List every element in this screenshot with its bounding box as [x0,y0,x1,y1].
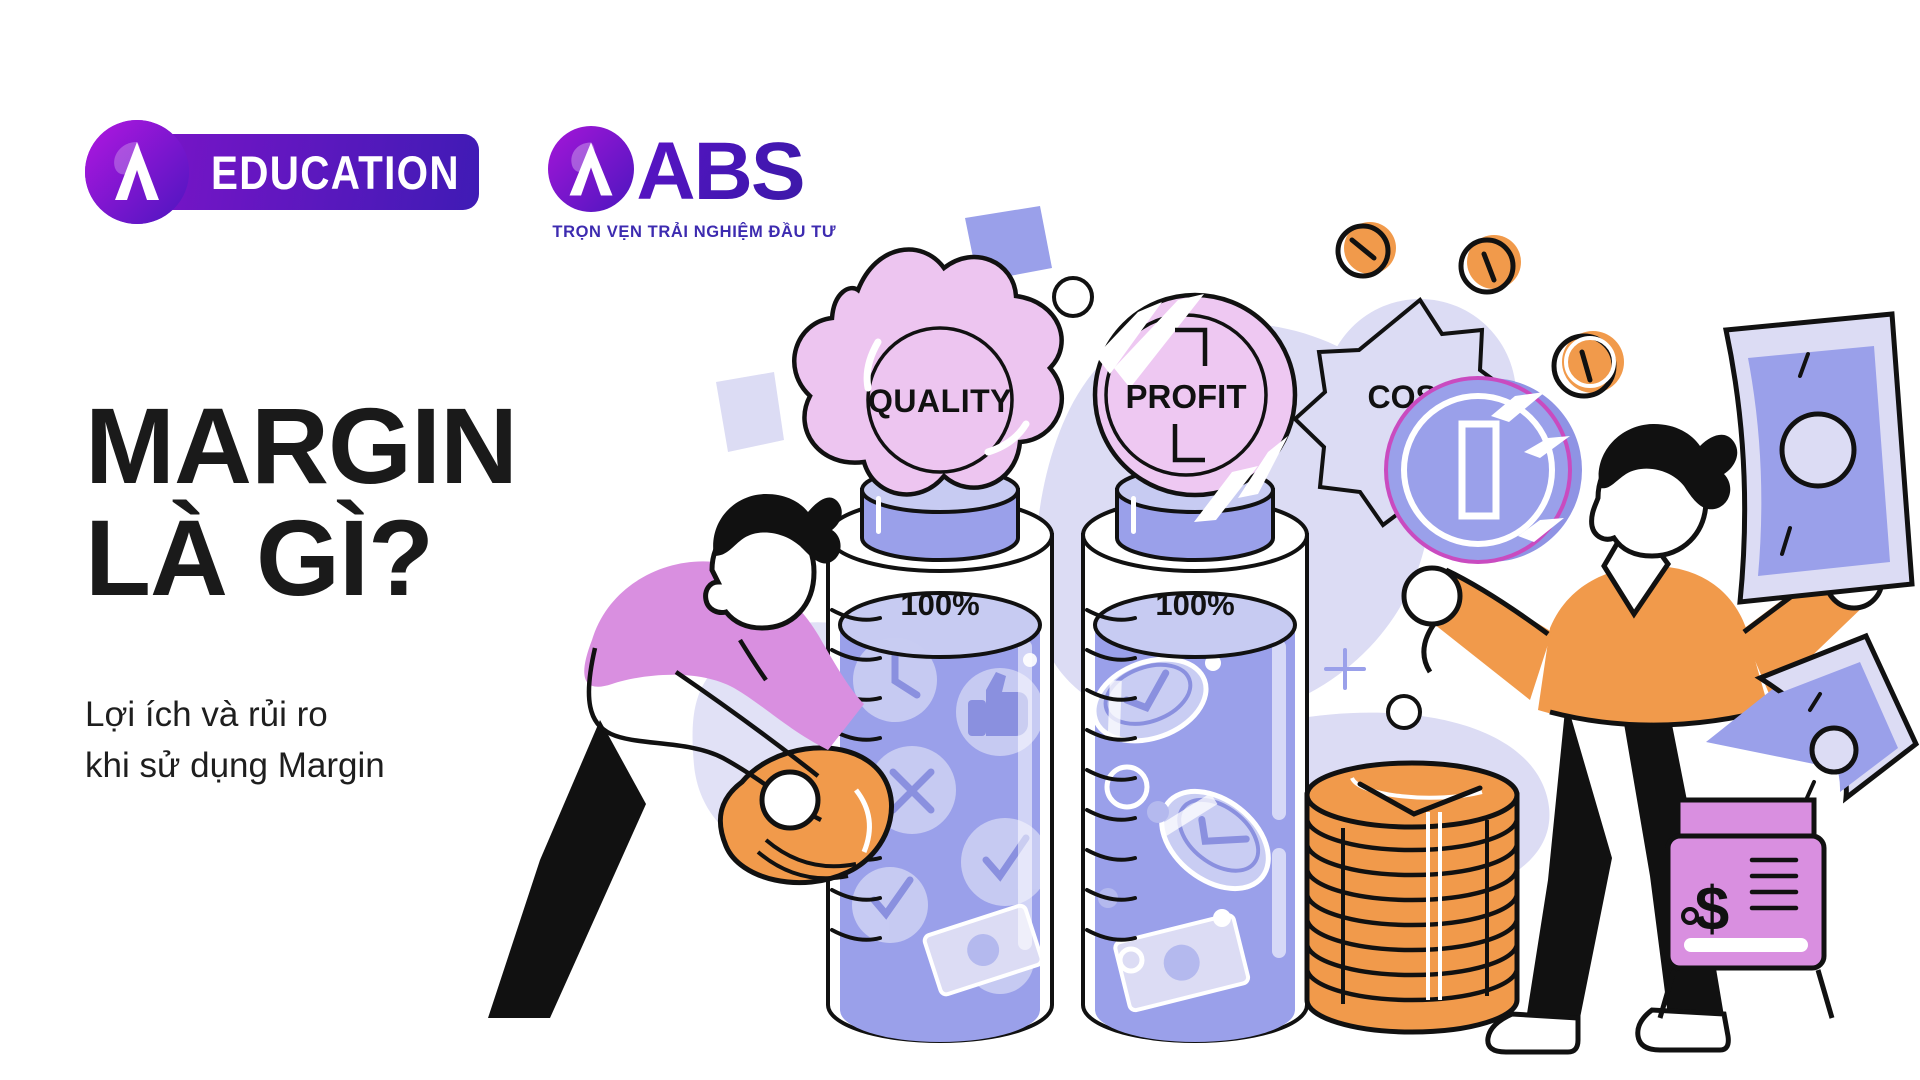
page-subtitle: Lợi ích và rủi ro khi sử dụng Margin [85,690,385,792]
left-cylinder-fill-label: 100% [900,587,979,622]
badge-profit-label: PROFIT [1126,378,1247,415]
brand-row: EDUCATION ABS [85,120,836,242]
right-cylinder-fill-label: 100% [1155,587,1234,622]
education-badge-label: EDUCATION [211,149,460,196]
abs-tagline: TRỌN VẸN TRẢI NGHIỆM ĐẦU TƯ [552,223,836,242]
education-badge[interactable]: EDUCATION [85,120,500,224]
abs-a-logomark-icon [548,126,634,217]
abs-wordmark: ABS [636,135,803,209]
poster-canvas: 100% [0,0,1920,1080]
wallet-dollar-symbol: $ [1695,875,1729,944]
abs-lockup[interactable]: ABS TRỌN VẸN TRẢI NGHIỆM ĐẦU TƯ [548,120,836,242]
badge-quality: QUALITY [794,250,1062,495]
page-title: MARGIN LÀ GÌ? [85,390,517,615]
badge-quality-label: QUALITY [868,383,1012,419]
large-purple-coin [1386,378,1582,562]
abs-a-logomark-icon [85,120,189,224]
right-cylinder: 100% [1083,468,1307,1042]
purple-banknote [1726,314,1912,602]
orange-coin-stack [1307,763,1517,1032]
